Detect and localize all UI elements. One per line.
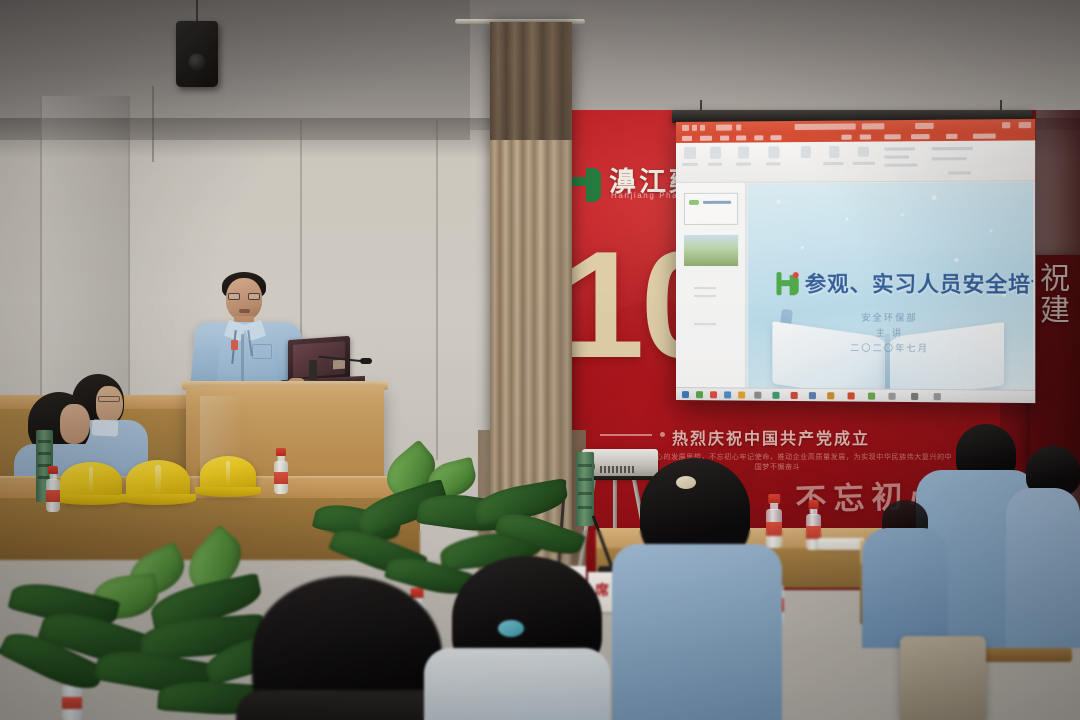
taskbar-icon-app-8 xyxy=(827,392,834,399)
current-slide: 参观、实习人员安全培训 安全环保部 主 讲 二〇二〇年七月 xyxy=(748,182,1033,390)
hard-hat-2 xyxy=(126,460,190,502)
wall-seam-d xyxy=(436,120,438,460)
slide-logo-icon xyxy=(776,272,798,295)
taskbar-icon-app-3 xyxy=(738,392,745,399)
taskbar-icon-app-10 xyxy=(888,393,895,400)
taskbar-icon-start xyxy=(682,391,689,398)
conference-hall-photo: 10 濞江藥業 Hanjiang Pharmaceutical 热烈庆祝中国共产… xyxy=(0,0,1080,720)
hard-hat-1 xyxy=(60,462,122,502)
foreground-person-3-hair-tie xyxy=(676,476,696,489)
slide-thumbnail-2[interactable] xyxy=(684,235,738,266)
hard-hat-3 xyxy=(200,456,256,494)
right-chair-back xyxy=(900,636,986,720)
podium-mic-head-icon xyxy=(360,358,372,364)
slide-subtitle-1: 安全环保部 xyxy=(748,310,1033,324)
presenter-id-badge xyxy=(231,340,238,350)
slide-logo-dot-icon xyxy=(793,272,799,278)
water-bottle-1 xyxy=(46,466,60,512)
taskbar-icon-powerpoint xyxy=(848,392,855,399)
slide-subtitle-2: 主 讲 xyxy=(748,325,1033,339)
projector-vent xyxy=(600,466,634,473)
banner-headline: 热烈庆祝中国共产党成立 xyxy=(672,425,870,449)
presenter-shirt-placket xyxy=(241,334,244,386)
taskbar-icon-app-2 xyxy=(724,391,731,398)
ceiling-speaker xyxy=(176,21,218,87)
speaker-cable xyxy=(196,0,198,23)
taskbar-icon-app-7 xyxy=(809,392,816,399)
presenter-mouth xyxy=(239,309,250,313)
taskbar-icon-tray xyxy=(934,393,941,400)
table-papers-1 xyxy=(818,538,864,550)
taskbar-icon-app-11 xyxy=(911,393,918,400)
laptop-sticker xyxy=(333,360,345,370)
taskbar-icon-app-5 xyxy=(772,392,779,399)
audience-left-2-face xyxy=(96,386,123,423)
slide-title: 参观、实习人员安全培训 xyxy=(805,268,1033,299)
water-bottle-2 xyxy=(274,448,288,494)
audience-right-2-torso xyxy=(1006,488,1080,648)
audience-right-3-torso xyxy=(862,528,948,648)
projection-screen: 参观、实习人员安全培训 安全环保部 主 讲 二〇二〇年七月 xyxy=(676,119,1035,403)
taskbar-icon-explorer xyxy=(696,391,703,398)
podium-mic-base xyxy=(309,360,317,380)
taskbar-icon-app-9 xyxy=(868,393,875,400)
banner-rule xyxy=(600,434,652,436)
presenter-shirt-pocket xyxy=(252,344,272,359)
taskbar-icon-app-6 xyxy=(791,392,798,399)
wall-conduit xyxy=(152,86,154,162)
slide-thumbnail-1[interactable] xyxy=(684,193,738,225)
audience-left-2-glasses-icon xyxy=(98,396,120,402)
taskbar-icon-app-1 xyxy=(710,391,717,398)
slide-subtitle-3: 二〇二〇年七月 xyxy=(748,340,1033,355)
foreground-person-2-hair-tie xyxy=(498,620,524,637)
water-bottle-3 xyxy=(766,494,782,548)
presenter-glasses-icon xyxy=(228,293,260,300)
foreground-person-3-body xyxy=(612,544,782,720)
banner-bullet-icon xyxy=(660,432,665,437)
audience-left-1-face xyxy=(60,404,90,444)
side-banner-text: 祝建 xyxy=(1038,262,1076,326)
audience-left-2-collar xyxy=(92,419,119,436)
curtain-header-pleats xyxy=(490,22,572,140)
powerpoint-ribbon[interactable] xyxy=(676,140,1035,183)
taskbar-icon-app-4 xyxy=(754,392,761,399)
slide-thumbnail-pane[interactable] xyxy=(676,183,746,389)
foreground-person-2-body xyxy=(424,648,610,720)
